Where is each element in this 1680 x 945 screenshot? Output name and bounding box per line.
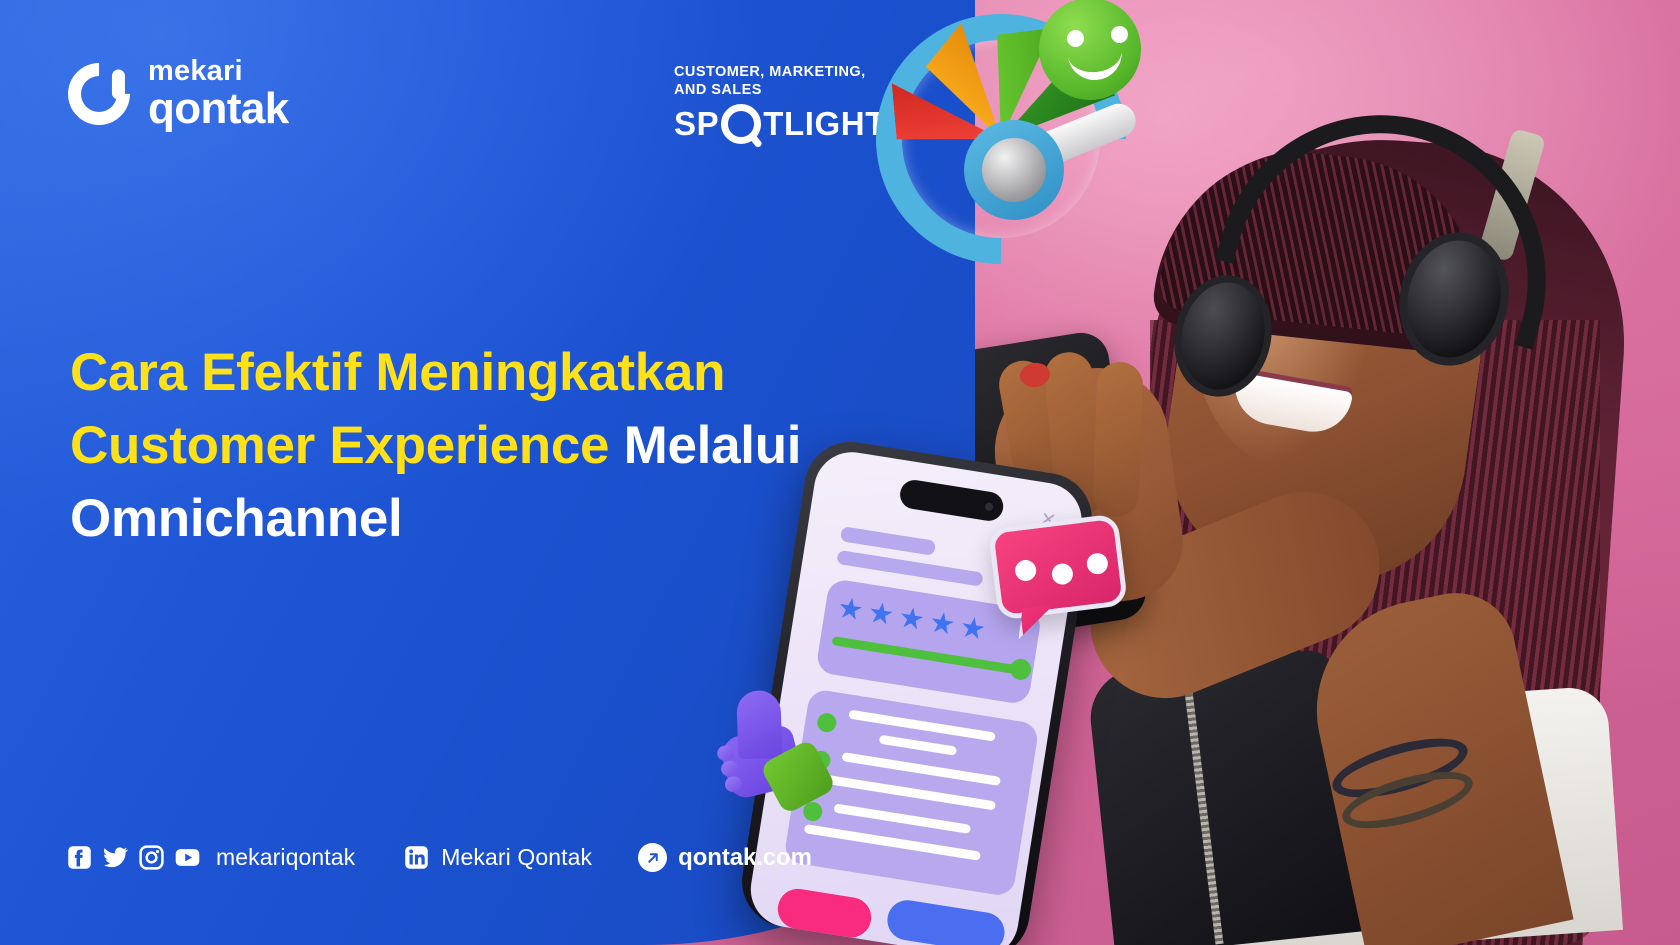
headline-line-2-plain: Melalui xyxy=(609,416,801,475)
thumb-up-finger xyxy=(736,690,782,759)
linkedin-name-text: Mekari Qontak xyxy=(441,844,592,871)
website-text: qontak.com xyxy=(678,844,812,872)
star-icon: ★ xyxy=(927,608,957,641)
spotlight-word-prefix: SP xyxy=(674,105,719,143)
star-icon: ★ xyxy=(896,603,926,636)
gauge-smiley-eye-left xyxy=(1067,30,1084,47)
typing-dot xyxy=(1086,552,1109,575)
headline-line-2-highlight: Customer Experience xyxy=(70,416,609,475)
twitter-icon[interactable] xyxy=(102,844,129,871)
linkedin-group[interactable]: Mekari Qontak xyxy=(403,844,592,871)
photo-finger-3 xyxy=(1092,361,1143,518)
footer-social-bar: mekariqontak Mekari Qontak qontak.com xyxy=(66,843,812,872)
diagonal-arrow-glyph xyxy=(644,849,662,867)
logo-qontak-text: qontak xyxy=(148,88,289,130)
magnifier-o-icon xyxy=(721,104,761,144)
star-icon: ★ xyxy=(958,613,988,646)
typing-dot xyxy=(1014,559,1037,582)
social-handle-text: mekariqontak xyxy=(216,844,355,871)
skeleton-line-2 xyxy=(836,550,983,587)
website-group[interactable]: qontak.com xyxy=(638,843,812,872)
linkedin-icon[interactable] xyxy=(403,844,430,871)
mekari-c-mark-icon xyxy=(55,50,143,138)
phone-notch xyxy=(898,478,1005,523)
phone-primary-button[interactable] xyxy=(885,897,1008,945)
chat-bubble-typing-icon xyxy=(988,513,1128,620)
gauge-smiley-eye-right xyxy=(1111,26,1128,43)
logo-wordmark: mekari qontak xyxy=(148,58,289,130)
page-title: Cara Efektif Meningkatkan Customer Exper… xyxy=(70,336,870,555)
youtube-icon[interactable] xyxy=(174,844,201,871)
spotlight-kicker-text: CUSTOMER, MARKETING, AND SALES xyxy=(674,64,886,99)
social-handle-group[interactable]: mekariqontak xyxy=(66,844,355,871)
headline-line-3: Omnichannel xyxy=(70,489,402,548)
headline-line-1: Cara Efektif Meningkatkan xyxy=(70,343,725,402)
typing-dot xyxy=(1051,562,1074,585)
facebook-icon[interactable] xyxy=(66,844,93,871)
satisfaction-gauge-icon xyxy=(868,0,1168,227)
instagram-icon[interactable] xyxy=(138,844,165,871)
arrow-link-icon[interactable] xyxy=(638,843,667,872)
spotlight-badge: CUSTOMER, MARKETING, AND SALES SP TLIGHT xyxy=(674,64,886,144)
spotlight-wordmark: SP TLIGHT xyxy=(674,104,886,144)
logo-mekari-text: mekari xyxy=(148,58,289,86)
gauge-hub-center xyxy=(982,138,1046,202)
star-icon: ★ xyxy=(835,594,865,627)
star-icon: ★ xyxy=(866,598,896,631)
mekari-qontak-logo[interactable]: mekari qontak xyxy=(68,58,289,130)
